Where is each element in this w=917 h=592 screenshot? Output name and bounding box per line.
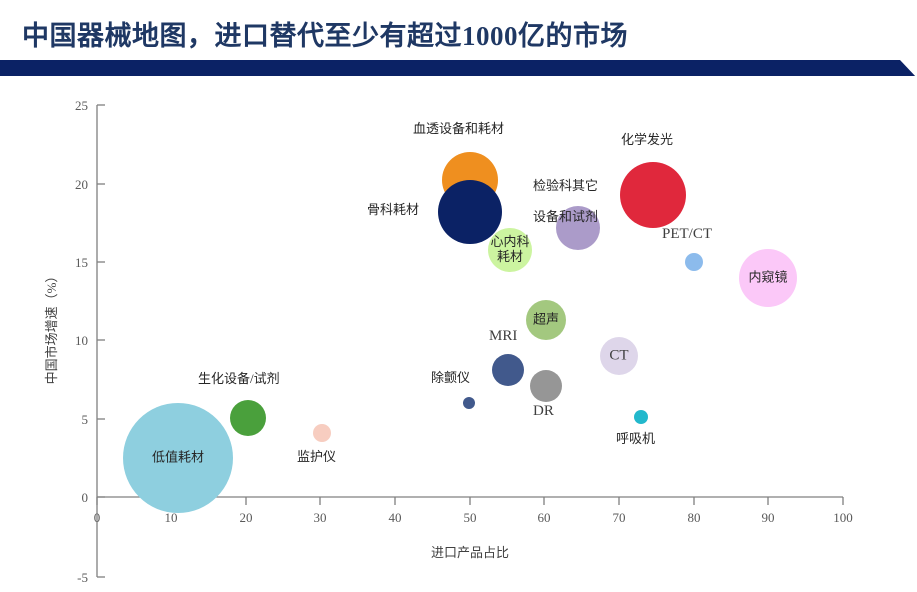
- y-tick-label-15: 15: [75, 255, 88, 270]
- y-tick-label-10: 10: [75, 333, 88, 348]
- bubble-biochemistry-equipment[interactable]: [230, 400, 266, 436]
- y-tick-label-5: 5: [82, 412, 89, 427]
- bubble-label-patient-monitor: 监护仪: [297, 449, 336, 465]
- x-tick-label-70: 70: [613, 510, 626, 525]
- bubble-label-mri: MRI: [489, 327, 517, 345]
- bubble-mri[interactable]: [492, 354, 524, 386]
- x-tick-label-100: 100: [833, 510, 853, 525]
- bubble-defibrillator[interactable]: [463, 397, 475, 409]
- x-tick-label-40: 40: [389, 510, 402, 525]
- bubble-chemiluminescence[interactable]: [620, 162, 686, 228]
- bubble-label-ventilator: 呼吸机: [616, 431, 655, 447]
- x-tick-label-30: 30: [314, 510, 327, 525]
- bubble-pet-ct[interactable]: [685, 253, 703, 271]
- bubble-low-value-consumables[interactable]: [123, 403, 233, 513]
- y-tick-label-minus5: -5: [77, 570, 88, 585]
- bubble-label-lab-other-equipment: 检验科其它 设备和试剂: [520, 162, 598, 240]
- bubble-dr[interactable]: [530, 370, 562, 402]
- x-tick-label-60: 60: [538, 510, 551, 525]
- bubble-label-defibrillator: 除颤仪: [431, 370, 470, 386]
- bubble-ct[interactable]: [600, 337, 638, 375]
- y-tick-label-25: 25: [75, 98, 88, 113]
- bubble-label-orthopedic-consumables: 骨科耗材: [367, 202, 419, 218]
- bubble-endoscope[interactable]: [739, 249, 797, 307]
- bubble-label-lab-line2: 设备和试剂: [533, 209, 598, 224]
- page-title: 中国器械地图，进口替代至少有超过1000亿的市场: [22, 14, 628, 53]
- page-header: 中国器械地图，进口替代至少有超过1000亿的市场: [0, 0, 917, 82]
- y-tick-label-20: 20: [75, 177, 88, 192]
- bubble-ventilator[interactable]: [634, 410, 648, 424]
- x-tick-label-80: 80: [688, 510, 701, 525]
- header-accent-band: [0, 60, 917, 76]
- bubble-label-lab-line1: 检验科其它: [533, 178, 598, 193]
- bubble-label-pet-ct: PET/CT: [662, 225, 712, 243]
- y-axis-title: 中国市场增速（%）: [44, 270, 59, 385]
- bubble-label-biochemistry-equipment: 生化设备/试剂: [198, 371, 280, 387]
- bubble-orthopedic-consumables[interactable]: [438, 180, 502, 244]
- x-tick-label-90: 90: [762, 510, 775, 525]
- bubble-ultrasound[interactable]: [526, 300, 566, 340]
- bubble-label-dr: DR: [533, 402, 554, 420]
- bubble-patient-monitor[interactable]: [313, 424, 331, 442]
- bubble-label-dialysis-equipment: 血透设备和耗材: [413, 121, 504, 137]
- bubble-chart: 25 20 15 10 5 0 -5 0 10 20 30 40 50 60 7…: [0, 82, 917, 592]
- x-tick-label-0: 0: [94, 510, 101, 525]
- bubble-label-chemiluminescence: 化学发光: [621, 132, 673, 148]
- x-tick-label-50: 50: [464, 510, 477, 525]
- x-axis-title: 进口产品占比: [431, 545, 509, 560]
- x-tick-label-20: 20: [240, 510, 253, 525]
- y-tick-label-0: 0: [82, 490, 89, 505]
